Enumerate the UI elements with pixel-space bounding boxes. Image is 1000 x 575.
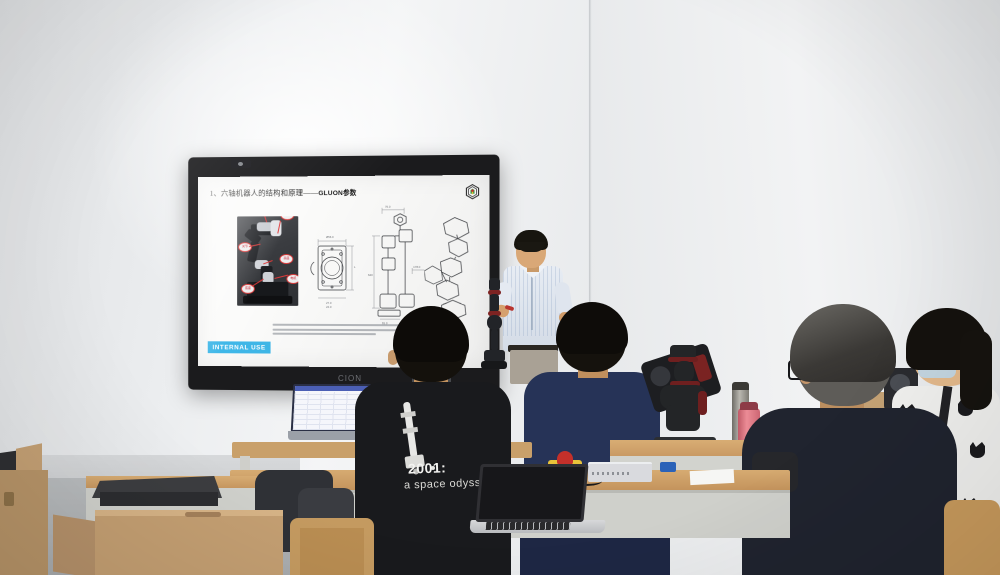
svg-text:178.0: 178.0 <box>413 265 421 269</box>
slide-title-number: 1、 <box>210 189 221 198</box>
svg-text:76.0: 76.0 <box>385 206 391 209</box>
paper-sheet <box>690 469 735 485</box>
status-badge-label: INTERNAL USE <box>212 344 265 351</box>
chair-right <box>944 500 1000 575</box>
demo-robot-arm <box>481 278 507 378</box>
hexagon-shield-logo <box>466 184 479 199</box>
callout-bubble: 基座 <box>279 254 293 264</box>
tshirt-text-line-1: 2001: <box>408 459 447 476</box>
chair-left-seat <box>300 528 364 575</box>
cardboard-box-handle <box>185 512 221 517</box>
top-view-dimension-drawing: Ø56.027.0 24.0L <box>306 232 358 310</box>
cardboard-box-flap-left <box>53 515 97 575</box>
status-badge: INTERNAL USE <box>208 341 271 353</box>
svg-text:640: 640 <box>368 273 373 277</box>
foam-packing-base <box>100 492 218 506</box>
svg-text:L: L <box>354 265 356 269</box>
cardboard-box-large <box>95 516 283 575</box>
slide-title-emphasis: GLUON参数 <box>318 190 356 197</box>
macbook-foreground[interactable] <box>470 464 605 536</box>
svg-text:Ø56.0: Ø56.0 <box>326 235 334 239</box>
presenter-shirt-placket <box>531 272 533 330</box>
slide-title-text: 六轴机器人的结构和原理—— <box>221 188 318 198</box>
attendee-right-masked-hair-side <box>960 330 992 410</box>
bottle-cap <box>740 402 758 410</box>
cardboard-box-left <box>0 470 48 575</box>
thermos-cap <box>732 382 749 390</box>
blue-connector <box>660 462 676 472</box>
svg-text:24.0: 24.0 <box>326 305 332 309</box>
callout-bubble: 关节 <box>238 242 252 252</box>
slide-body-text <box>273 324 413 338</box>
slide-title: 1、六轴机器人的结构和原理——GLUON参数 <box>210 187 357 199</box>
webcam-icon <box>231 160 251 168</box>
presenter-hair <box>514 230 548 250</box>
robot-arm-photo: 关节 连杆 末端 基座 电机 底座 <box>237 216 298 306</box>
classroom-scene: 1、六轴机器人的结构和原理——GLUON参数 关节 <box>0 0 1000 575</box>
callout-bubble: 末端 <box>280 216 294 220</box>
